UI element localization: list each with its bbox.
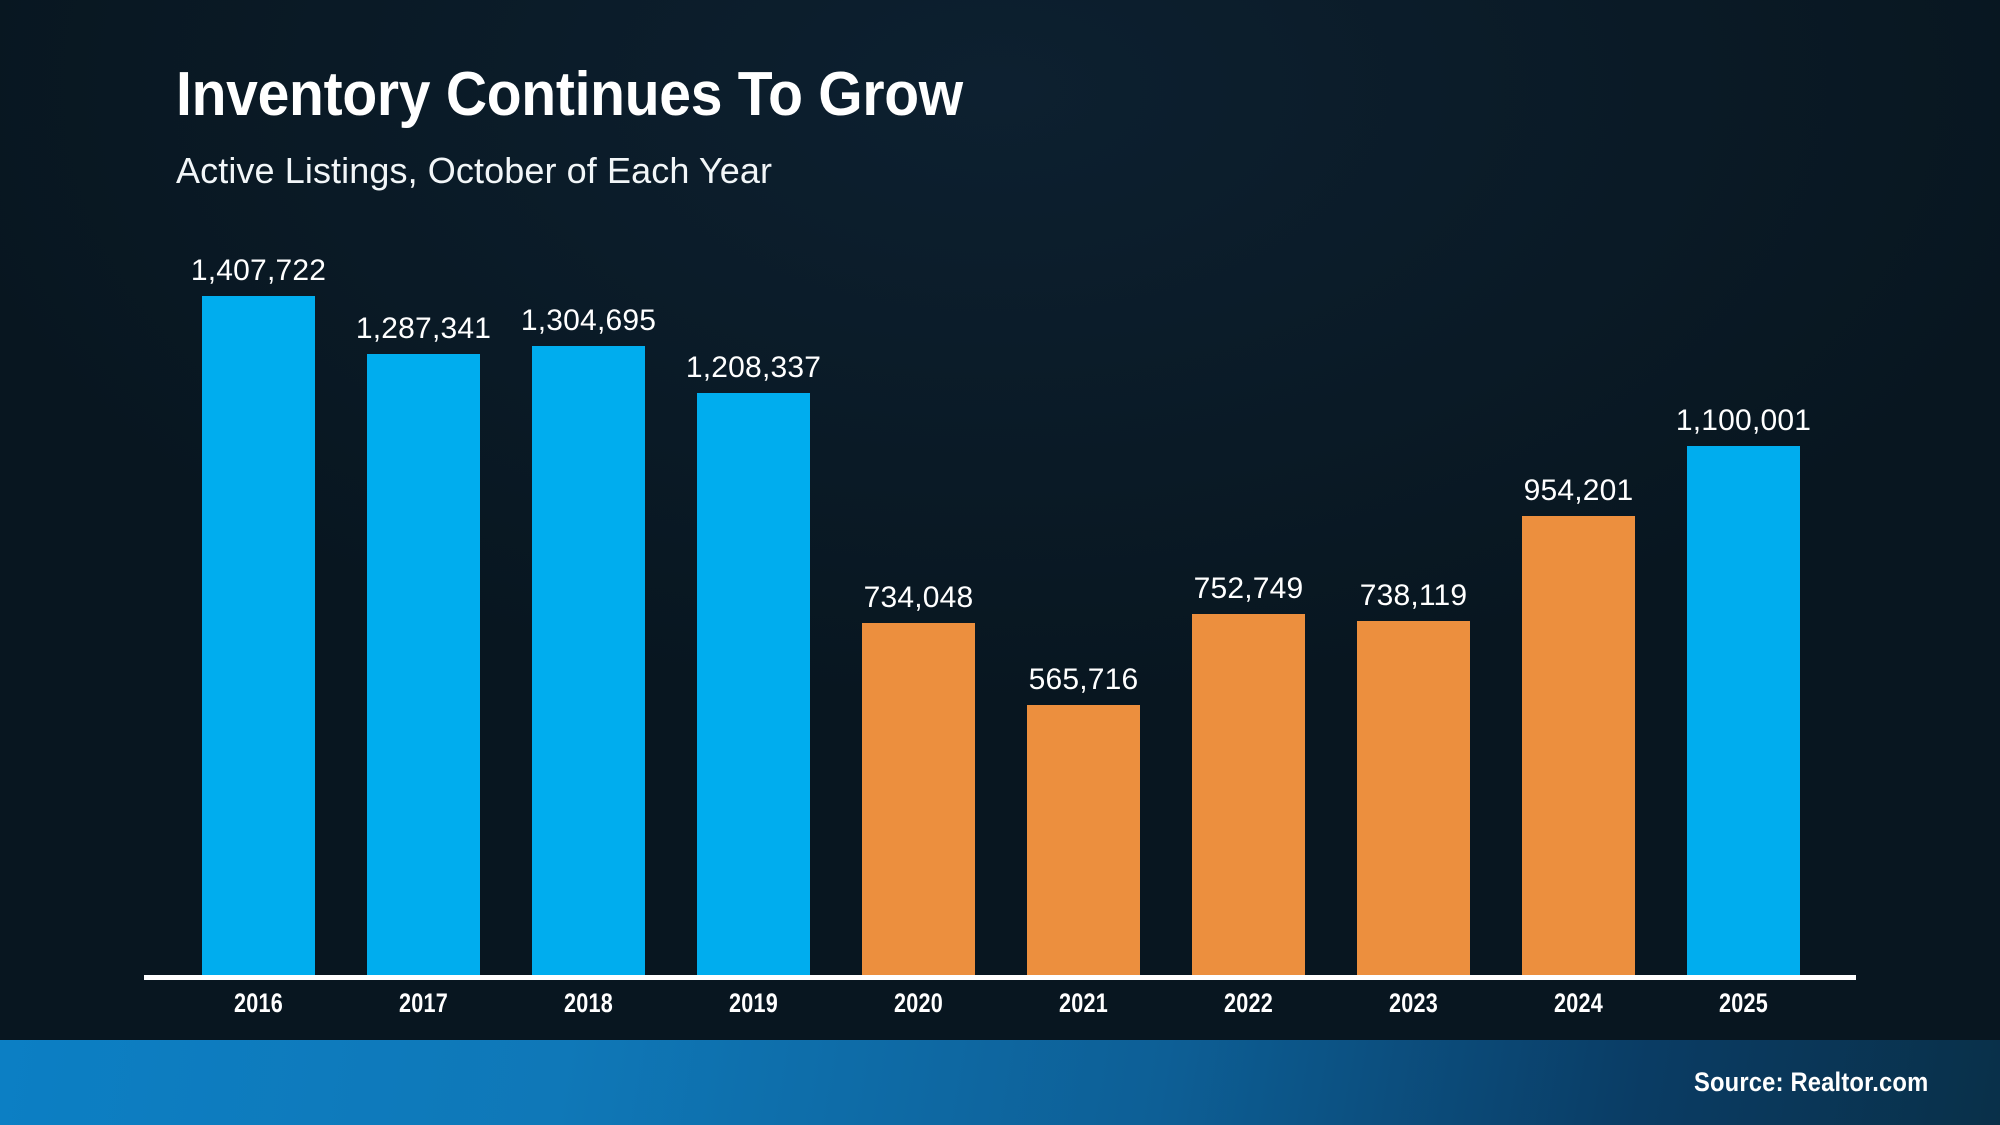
x-axis-label-2021: 2021 — [1018, 988, 1150, 1019]
bar-slot-2017: 1,287,341 — [341, 246, 506, 980]
x-axis-label-2020: 2020 — [853, 988, 985, 1019]
source-attribution: Source: Realtor.com — [1694, 1067, 1928, 1098]
x-axis-label-2017: 2017 — [358, 988, 490, 1019]
bar-slot-2022: 752,749 — [1166, 246, 1331, 980]
bar-2019[interactable] — [697, 393, 810, 980]
bar-chart-plot-area: 1,407,7221,287,3411,304,6951,208,337734,… — [176, 246, 1826, 980]
x-axis-line — [144, 975, 1856, 980]
x-axis-label-2025: 2025 — [1678, 988, 1810, 1019]
slide-canvas: Inventory Continues To Grow Active Listi… — [0, 0, 2000, 1125]
bar-slot-2021: 565,716 — [1001, 246, 1166, 980]
bar-2020[interactable] — [862, 623, 975, 980]
bar-2018[interactable] — [532, 346, 645, 980]
bar-value-label: 1,304,695 — [521, 304, 656, 338]
bar-value-label: 1,100,001 — [1676, 404, 1811, 438]
bar-slot-2020: 734,048 — [836, 246, 1001, 980]
bar-2025[interactable] — [1687, 446, 1800, 980]
bar-2017[interactable] — [367, 354, 480, 980]
slide-footer-bar: Source: Realtor.com — [0, 1040, 2000, 1125]
x-axis-label-2018: 2018 — [523, 988, 655, 1019]
bar-2021[interactable] — [1027, 705, 1140, 980]
bar-value-label: 1,407,722 — [191, 254, 326, 288]
bar-slot-2019: 1,208,337 — [671, 246, 836, 980]
page-title: Inventory Continues To Grow — [176, 62, 1648, 128]
x-axis-label-2016: 2016 — [193, 988, 325, 1019]
bar-value-label: 1,287,341 — [356, 312, 491, 346]
bar-slot-2024: 954,201 — [1496, 246, 1661, 980]
bar-slot-2016: 1,407,722 — [176, 246, 341, 980]
x-axis-label-2019: 2019 — [688, 988, 820, 1019]
x-axis-label-2023: 2023 — [1348, 988, 1480, 1019]
bar-2024[interactable] — [1522, 516, 1635, 980]
bar-value-label: 738,119 — [1360, 579, 1468, 613]
bar-slot-2023: 738,119 — [1331, 246, 1496, 980]
bar-value-label: 734,048 — [864, 581, 974, 615]
x-axis-label-2024: 2024 — [1513, 988, 1645, 1019]
bar-2023[interactable] — [1357, 621, 1470, 980]
bar-value-label: 752,749 — [1194, 572, 1304, 606]
bar-series-container: 1,407,7221,287,3411,304,6951,208,337734,… — [176, 246, 1826, 980]
x-axis-tick-labels: 2016201720182019202020212022202320242025 — [176, 988, 1826, 1019]
bar-slot-2025: 1,100,001 — [1661, 246, 1826, 980]
bar-2022[interactable] — [1192, 614, 1305, 980]
x-axis-label-2022: 2022 — [1183, 988, 1315, 1019]
slide-header: Inventory Continues To Grow Active Listi… — [176, 62, 1776, 192]
bar-2016[interactable] — [202, 296, 315, 980]
bar-slot-2018: 1,304,695 — [506, 246, 671, 980]
bar-value-label: 565,716 — [1029, 663, 1139, 697]
bar-value-label: 954,201 — [1524, 474, 1634, 508]
bar-value-label: 1,208,337 — [686, 351, 821, 385]
page-subtitle: Active Listings, October of Each Year — [176, 150, 1776, 192]
